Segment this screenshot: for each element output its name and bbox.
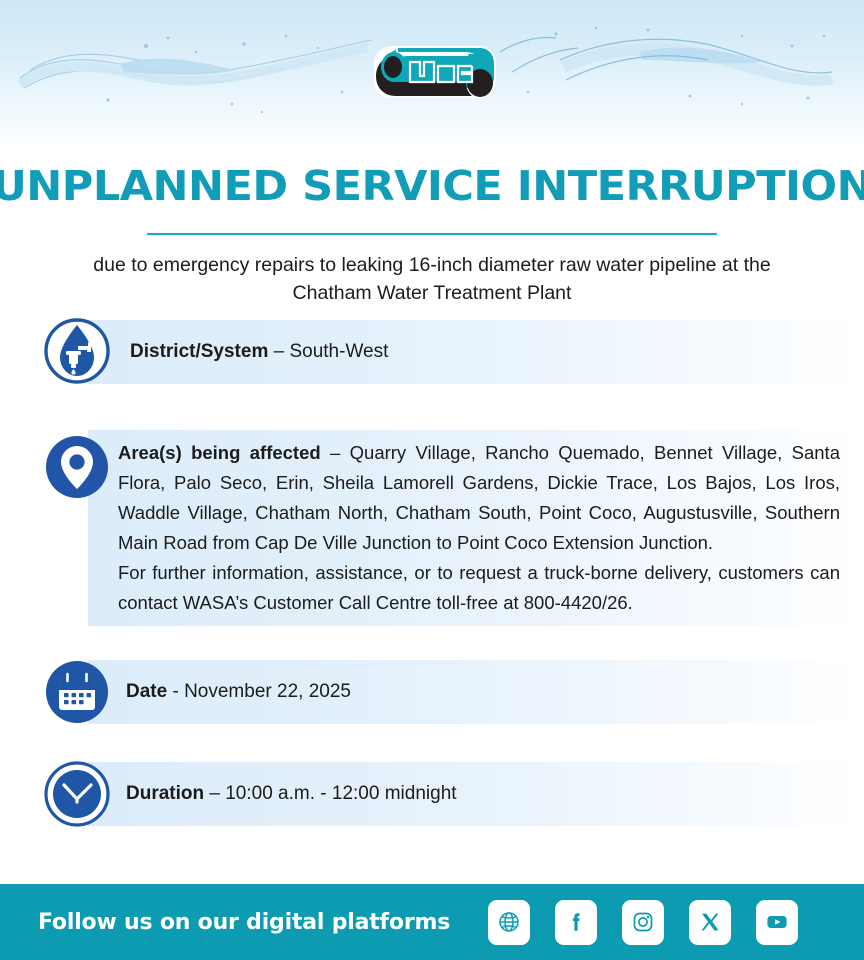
title-divider (147, 233, 717, 235)
location-pin-icon (44, 434, 110, 500)
detail-row-duration: Duration – 10:00 a.m. - 12:00 midnight (0, 762, 864, 826)
title-block: UNPLANNED SERVICE INTERRUPTION due to em… (0, 152, 864, 308)
date-text: Date - November 22, 2025 (0, 660, 864, 724)
district-value: South-West (289, 341, 388, 362)
facebook-icon[interactable] (555, 900, 597, 945)
duration-label: Duration (126, 783, 204, 804)
detail-row-date: Date - November 22, 2025 (0, 660, 864, 724)
area-note: For further information, assistance, or … (118, 558, 840, 618)
details-section: District/System – South-West Area(s) bei… (0, 320, 864, 826)
x-twitter-icon[interactable] (689, 900, 731, 945)
area-text: Area(s) being affected – Quarry Village,… (0, 430, 864, 626)
service-interruption-notice: UNPLANNED SERVICE INTERRUPTION due to em… (0, 0, 864, 960)
district-separator: – (268, 341, 289, 362)
calendar-icon (44, 659, 110, 725)
detail-row-area: Area(s) being affected – Quarry Village,… (0, 430, 864, 626)
detail-row-district: District/System – South-West (0, 320, 864, 384)
instagram-icon[interactable] (622, 900, 664, 945)
wasa-logo (368, 26, 508, 114)
clock-icon (44, 761, 110, 827)
subtitle-line-1: due to emergency repairs to leaking 16-i… (93, 254, 770, 276)
subtitle-line-2: Chatham Water Treatment Plant (293, 282, 572, 304)
area-paragraph: Area(s) being affected – Quarry Village,… (118, 438, 840, 558)
date-label: Date (126, 681, 167, 702)
duration-text: Duration – 10:00 a.m. - 12:00 midnight (0, 762, 864, 826)
duration-separator: – (204, 783, 225, 804)
area-label: Area(s) being affected (118, 442, 321, 463)
footer-bar: Follow us on our digital platforms (0, 884, 864, 960)
website-globe-icon[interactable] (488, 900, 530, 945)
social-links (488, 900, 798, 945)
water-drop-faucet-icon (44, 318, 110, 384)
footer-label: Follow us on our digital platforms (38, 910, 450, 935)
page-title: UNPLANNED SERVICE INTERRUPTION (0, 152, 864, 207)
duration-value: 10:00 a.m. - 12:00 midnight (225, 783, 456, 804)
area-separator: – (321, 442, 350, 463)
page-subtitle: due to emergency repairs to leaking 16-i… (32, 251, 832, 308)
header-banner (0, 0, 864, 150)
youtube-icon[interactable] (756, 900, 798, 945)
date-separator: - (167, 681, 184, 702)
district-text: District/System – South-West (0, 320, 864, 384)
district-label: District/System (130, 341, 268, 362)
date-value: November 22, 2025 (184, 681, 351, 702)
